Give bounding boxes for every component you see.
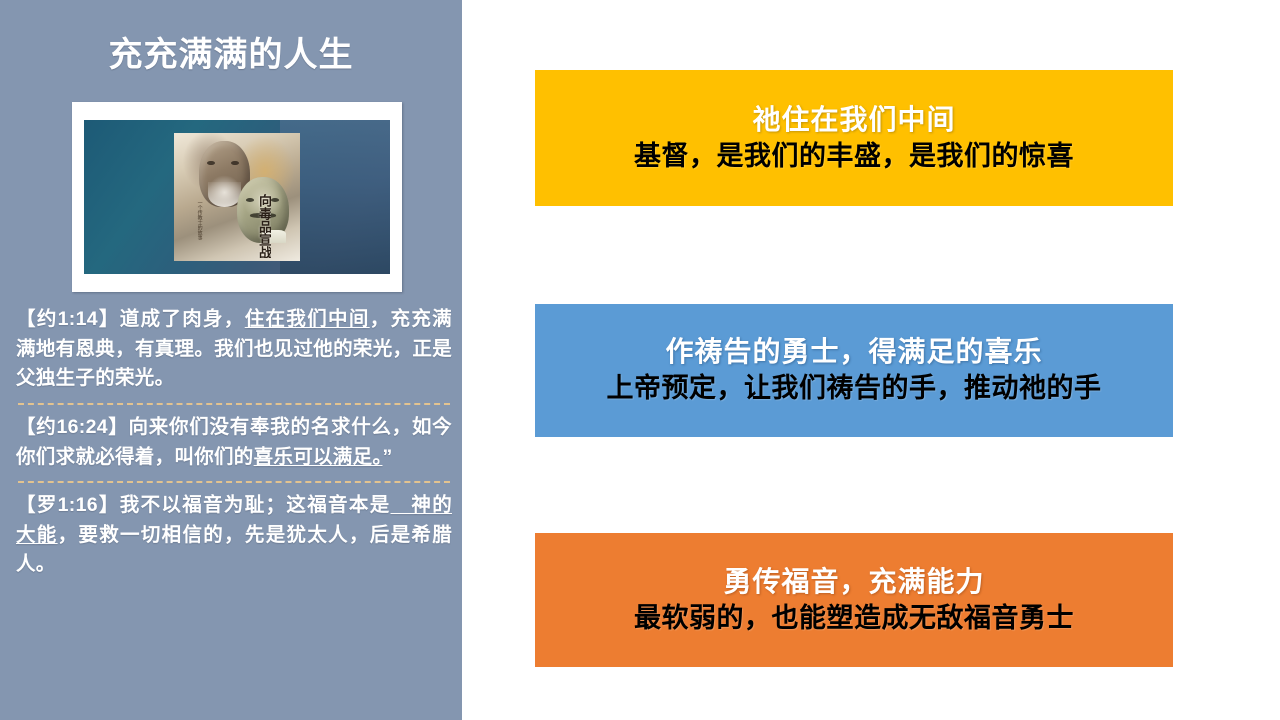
point-panel-2: 作祷告的勇士，得满足的喜乐 上帝预定，让我们祷告的手，推动祂的手 xyxy=(535,304,1173,437)
verse-list: 【约1:14】道成了肉身，住在我们中间，充充满满地有恩典，有真理。我们也见过他的… xyxy=(16,305,452,580)
slide-canvas: 充充满满的人生 一个传教士的故事 向毒品宣战 【约1:14】道成了肉身，住在我们… xyxy=(0,0,1280,720)
verse-3-reference: 【罗1:16】 xyxy=(16,494,120,516)
page-title: 充充满满的人生 xyxy=(0,37,462,74)
point-panel-1-heading: 祂住在我们中间 xyxy=(752,104,955,136)
photo-background: 一个传教士的故事 向毒品宣战 xyxy=(84,120,390,274)
verse-1-text-underlined: 住在我们中间 xyxy=(245,308,370,330)
point-panel-1-subheading: 基督，是我们的丰盛，是我们的惊喜 xyxy=(634,140,1074,172)
verse-item-1: 【约1:14】道成了肉身，住在我们中间，充充满满地有恩典，有真理。我们也见过他的… xyxy=(16,305,452,394)
point-panel-2-subheading: 上帝预定，让我们祷告的手，推动祂的手 xyxy=(607,372,1102,404)
verse-2-reference: 【约16:24】 xyxy=(16,416,129,438)
verse-2-text-underlined: 喜乐可以满足。 xyxy=(254,446,383,468)
verse-divider-1 xyxy=(18,403,450,405)
book-cover-photo-frame: 一个传教士的故事 向毒品宣战 xyxy=(72,102,402,292)
book-cover-title-text: 向毒品宣战 xyxy=(203,194,271,258)
verse-3-text-before: 我不以福音为耻；这福音本是 xyxy=(120,494,391,516)
verse-1-text-before: 道成了肉身， xyxy=(120,308,245,330)
point-panel-3-heading: 勇传福音，充满能力 xyxy=(723,566,984,598)
verse-1-reference: 【约1:14】 xyxy=(16,308,120,330)
verse-item-3: 【罗1:16】我不以福音为耻；这福音本是 神的大能，要救一切相信的，先是犹太人，… xyxy=(16,491,452,580)
book-cover-image: 一个传教士的故事 向毒品宣战 xyxy=(174,133,300,261)
point-panel-3-subheading: 最软弱的，也能塑造成无敌福音勇士 xyxy=(634,602,1074,634)
verse-item-2: 【约16:24】向来你们没有奉我的名求什么，如今你们求就必得着，叫你们的喜乐可以… xyxy=(16,413,452,472)
point-panel-2-heading: 作祷告的勇士，得满足的喜乐 xyxy=(665,336,1042,368)
point-panel-1: 祂住在我们中间 基督，是我们的丰盛，是我们的惊喜 xyxy=(535,70,1173,206)
point-panel-3: 勇传福音，充满能力 最软弱的，也能塑造成无敌福音勇士 xyxy=(535,533,1173,667)
left-sidebar: 充充满满的人生 一个传教士的故事 向毒品宣战 【约1:14】道成了肉身，住在我们… xyxy=(0,0,462,720)
verse-divider-2 xyxy=(18,481,450,483)
verse-2-text-after: ” xyxy=(382,446,392,468)
verse-3-text-after: ，要救一切相信的，先是犹太人，后是希腊人。 xyxy=(16,524,452,576)
